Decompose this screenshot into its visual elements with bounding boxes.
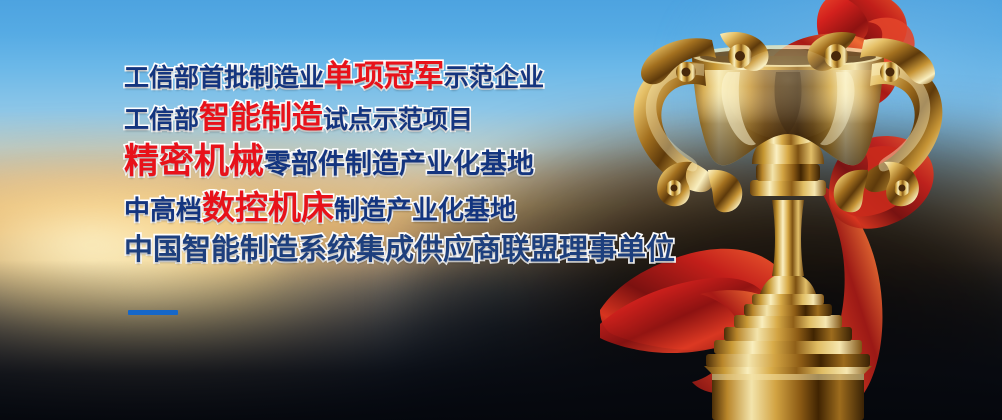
headline-line-1: 工信部首批制造业单项冠军示范企业 <box>124 62 624 92</box>
headline-3-seg-1: 精密机械 <box>124 142 264 182</box>
accent-underline-bar <box>128 310 178 315</box>
headline-line-2: 工信部智能制造试点示范项目 <box>124 103 624 134</box>
headline-3-seg-2: 零部件制造产业化基地 <box>264 149 534 180</box>
award-hero-banner: 工信部首批制造业单项冠军示范企业 工信部智能制造试点示范项目 精密机械零部件制造… <box>0 0 1002 420</box>
headline-4-seg-2: 数控机床 <box>202 188 334 227</box>
headline-4-seg-1: 中高档 <box>124 196 202 226</box>
headline-5-seg-1: 中国智能制造系统集成供应商联盟理事单位 <box>124 232 675 266</box>
background-dark-foreground <box>0 260 1002 420</box>
headline-1-seg-3: 示范企业 <box>444 63 544 92</box>
headline-1-seg-1: 工信部首批制造业 <box>124 63 324 92</box>
headline-line-4: 中高档数控机床制造产业化基地 <box>124 191 624 224</box>
headline-2-seg-1: 工信部 <box>124 105 199 134</box>
headline-2-seg-3: 试点示范项目 <box>323 105 473 134</box>
headline-list: 工信部首批制造业单项冠军示范企业 工信部智能制造试点示范项目 精密机械零部件制造… <box>124 62 624 264</box>
headline-1-seg-2: 单项冠军 <box>324 59 444 94</box>
headline-line-5: 中国智能制造系统集成供应商联盟理事单位 <box>124 235 624 264</box>
headline-line-3: 精密机械零部件制造产业化基地 <box>124 145 624 180</box>
headline-4-seg-3: 制造产业化基地 <box>334 196 516 226</box>
headline-2-seg-2: 智能制造 <box>199 100 323 136</box>
